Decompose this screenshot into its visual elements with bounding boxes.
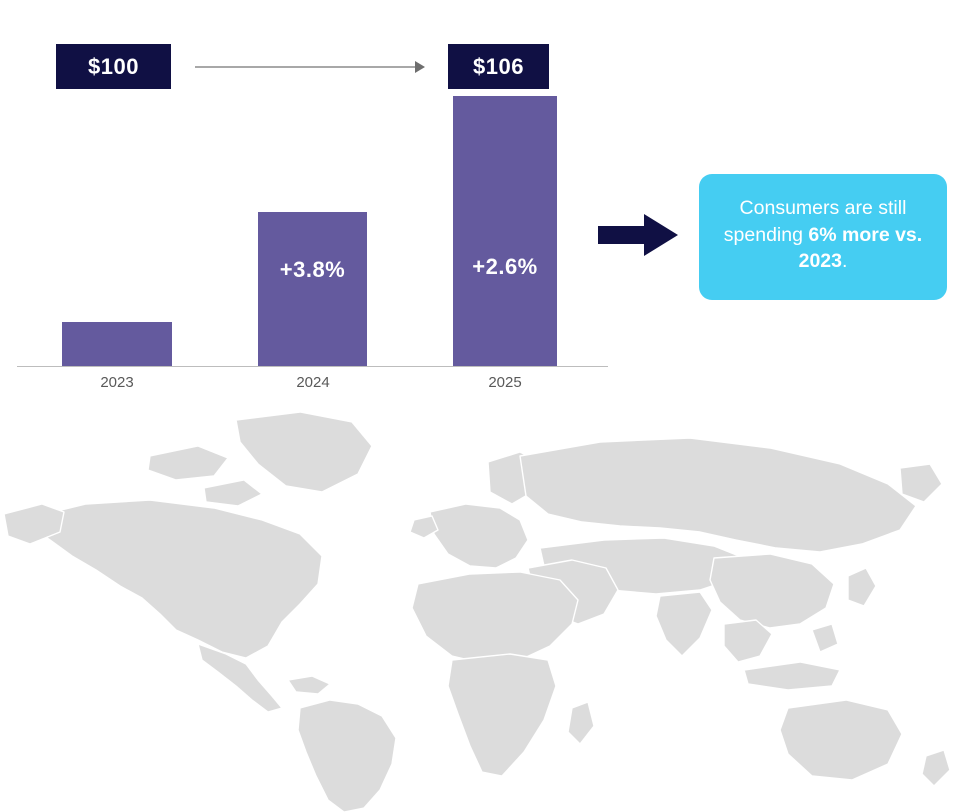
category-label-2023: 2023 bbox=[57, 374, 177, 391]
world-map-panel: $100 $105 North America $100 $108 Europe… bbox=[0, 408, 963, 812]
growth-connector-arrow-icon bbox=[193, 52, 425, 82]
bar-2023 bbox=[62, 322, 172, 366]
bar-2025: +2.6% bbox=[453, 96, 557, 366]
infographic-canvas: $100 $106 +3.8% +2.6% 2023 2024 2025 bbox=[0, 0, 963, 812]
callout-highlight-percent: 6% bbox=[808, 224, 836, 246]
bar-value-2025: +2.6% bbox=[453, 254, 557, 280]
callout-box: Consumers are still spending 6% more vs.… bbox=[699, 174, 947, 300]
index-start-chip: $100 bbox=[56, 44, 171, 89]
index-end-chip-label: $106 bbox=[473, 54, 524, 80]
bar-value-2024: +3.8% bbox=[258, 257, 367, 283]
category-label-2025: 2025 bbox=[445, 374, 565, 391]
index-end-chip: $106 bbox=[448, 44, 549, 89]
callout-tail: . bbox=[842, 250, 847, 272]
bar-2024: +3.8% bbox=[258, 212, 367, 366]
category-label-2024: 2024 bbox=[253, 374, 373, 391]
callout-arrow-icon bbox=[598, 210, 678, 260]
index-start-chip-label: $100 bbox=[88, 54, 139, 80]
index-bar-chart: $100 $106 +3.8% +2.6% 2023 2024 2025 bbox=[0, 0, 620, 400]
chart-axis-line bbox=[17, 366, 608, 367]
callout-text: Consumers are still spending 6% more vs.… bbox=[713, 195, 933, 276]
world-map-graphic bbox=[0, 408, 963, 812]
